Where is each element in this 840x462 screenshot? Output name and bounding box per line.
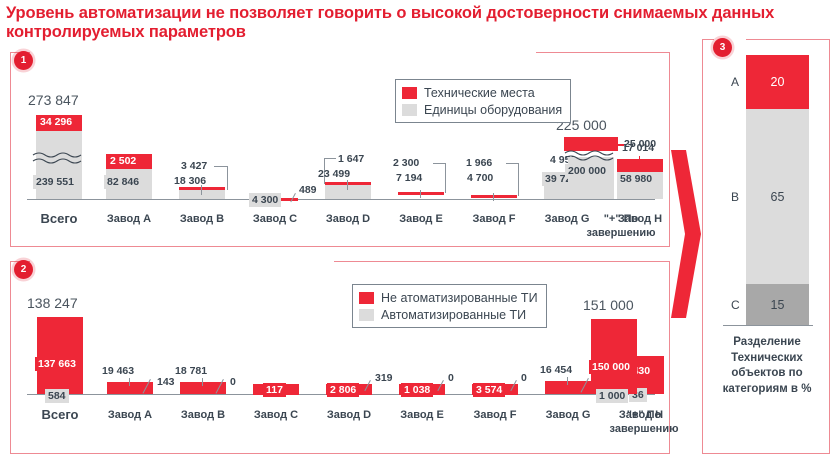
leader-line <box>518 163 519 196</box>
x-label: Завод E <box>388 213 454 225</box>
category-label-b: B <box>731 190 739 204</box>
bar-red-label: 3 574 <box>473 383 505 397</box>
bar-grey-label: 143 <box>157 376 175 388</box>
legend-label: Единицы оборудования <box>424 103 562 117</box>
x-label: Завод B <box>170 409 236 421</box>
category-label-c: C <box>731 298 740 312</box>
bar-red-label: 1 647 <box>338 153 364 165</box>
segment-a: 20 <box>746 55 809 109</box>
bar-grey-label: 82 846 <box>104 175 142 189</box>
legend-swatch-icon <box>402 87 417 99</box>
axis-break-wave-icon <box>32 151 86 165</box>
legend-label: Автоматизированные ТИ <box>381 308 526 322</box>
bar-grey-label: 239 551 <box>33 175 77 189</box>
bar-grey-label: 58 980 <box>617 172 655 186</box>
bar-grey-label: 4 300 <box>249 193 281 207</box>
segment-b: 65 <box>746 109 809 284</box>
chart-1-baseline <box>27 199 655 200</box>
bar-red-label: 2 300 <box>393 157 419 169</box>
chevron-right-arrow-icon <box>668 148 706 320</box>
segment-c: 15 <box>746 284 809 325</box>
panel-measurement-points: 138 247 137 663 584 19 463 143 18 781 0 … <box>10 262 670 454</box>
x-label: Завод F <box>461 213 527 225</box>
x-label: "+" По завершению <box>596 409 692 437</box>
x-label: Завод A <box>96 213 162 225</box>
legend-swatch-icon <box>359 309 374 321</box>
bar-grey-label: 200 000 <box>565 164 609 178</box>
bar-red-label: 25 000 <box>624 138 656 150</box>
bar-red-label: 3 427 <box>181 160 207 172</box>
leader-line <box>614 144 624 146</box>
bar-red-label: 18 781 <box>175 365 207 377</box>
bar-red-label: 150 000 <box>589 360 633 374</box>
leader-tick <box>347 180 348 190</box>
x-label: Завод A <box>97 409 163 421</box>
panel-technical-objects: 273 847 34 296 239 551 2 502 82 846 3 42… <box>10 53 670 247</box>
bar-grey-label: 18 306 <box>174 175 206 187</box>
bar-grey-label: 0 <box>448 372 454 384</box>
bar-grey-label: 319 <box>375 372 393 384</box>
x-label: Всего <box>26 211 92 226</box>
bar-red-label: 137 663 <box>35 357 79 371</box>
panel-3-caption: Разделение Технических объектов по катег… <box>707 335 827 397</box>
legend-label: Не атоматизированные ТИ <box>381 291 538 305</box>
leader-tick <box>567 377 568 385</box>
leader-line <box>227 166 228 190</box>
legend-swatch-icon <box>402 104 417 116</box>
leader-tick <box>202 378 203 386</box>
bar-red <box>37 317 83 394</box>
leader-line <box>214 166 228 167</box>
x-label: Завод C <box>242 213 308 225</box>
bar-red-label: 2 502 <box>107 154 139 168</box>
axis-break-wave-icon <box>564 149 618 162</box>
bar-grey-label: 584 <box>45 389 69 403</box>
panel-2-badge: 2 <box>14 260 33 279</box>
legend-item: Единицы оборудования <box>402 101 562 118</box>
chart-2-legend: Не атоматизированные ТИ Автоматизированн… <box>352 284 547 328</box>
leader-tick <box>493 193 494 201</box>
chart-category-split: 20 65 15 A B C Разделение Технических об… <box>703 40 829 453</box>
bar-red-label: 489 <box>299 184 317 196</box>
panel-category-split: 20 65 15 A B C Разделение Технических об… <box>702 40 830 454</box>
chart-1-legend: Технические места Единицы оборудования <box>395 79 571 123</box>
bar-red-label: 1 966 <box>466 157 492 169</box>
bar-total-label: 273 847 <box>28 92 79 108</box>
bar-red-label: 19 463 <box>102 365 134 377</box>
page-title: Уровень автоматизации не позволяет говор… <box>6 4 796 43</box>
bar-grey-label: 1 000 <box>596 389 628 403</box>
category-label-a: A <box>731 75 739 89</box>
bar-total-label: 151 000 <box>583 297 634 313</box>
leader-tick <box>129 378 130 386</box>
x-label: Завод D <box>316 409 382 421</box>
bar-red <box>591 319 637 394</box>
legend-label: Технические места <box>424 86 535 100</box>
leader-tick <box>639 156 640 162</box>
leader-line <box>445 163 446 193</box>
panel-3-badge: 3 <box>713 38 732 57</box>
bar-total-label: 138 247 <box>27 295 78 311</box>
legend-item: Не атоматизированные ТИ <box>359 289 538 306</box>
chart-technical-objects: 273 847 34 296 239 551 2 502 82 846 3 42… <box>11 53 669 246</box>
x-label: Всего <box>27 407 93 422</box>
legend-item: Технические места <box>402 84 562 101</box>
leader-line <box>433 163 446 164</box>
leader-line <box>506 163 519 164</box>
panel-1-badge: 1 <box>14 51 33 70</box>
x-label: Завод B <box>169 213 235 225</box>
chart-3-baseline <box>723 325 813 326</box>
bar-red-label: 34 296 <box>37 115 75 129</box>
bar-grey-label: 23 499 <box>318 168 350 180</box>
legend-swatch-icon <box>359 292 374 304</box>
bar-red-label: 2 806 <box>327 383 359 397</box>
legend-item: Автоматизированные ТИ <box>359 306 538 323</box>
x-label: Завод D <box>315 213 381 225</box>
x-label: Завод G <box>535 409 601 421</box>
leader-tick <box>420 190 421 198</box>
x-label: Завод E <box>389 409 455 421</box>
x-label: Завод C <box>243 409 309 421</box>
chart-measurement-points: 138 247 137 663 584 19 463 143 18 781 0 … <box>11 262 669 453</box>
x-label: Завод F <box>462 409 528 421</box>
leader-line <box>324 158 336 159</box>
bar-red-label: 1 038 <box>401 383 433 397</box>
bar-grey-label: 7 194 <box>396 172 422 184</box>
bar-grey-label: 0 <box>230 376 236 388</box>
bar-grey-label: 0 <box>521 372 527 384</box>
x-label: "+" По завершению <box>573 213 669 241</box>
bar-grey-label: 4 700 <box>467 172 493 184</box>
bar-red-label: 16 454 <box>540 364 572 376</box>
bar-red-label: 117 <box>263 383 286 397</box>
